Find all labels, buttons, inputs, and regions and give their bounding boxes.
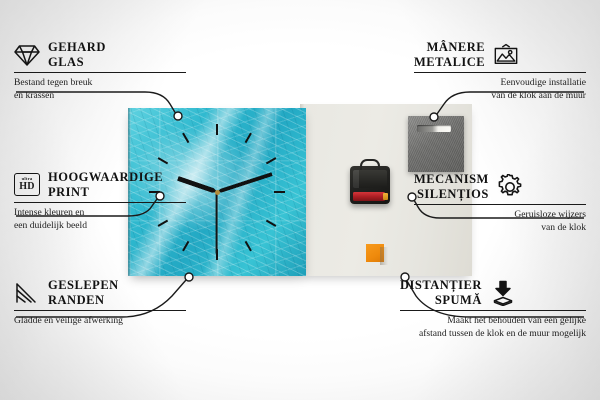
title-line-1: GEHARD	[48, 40, 106, 54]
desc-line-2: een duidelijk beeld	[14, 220, 87, 231]
hand-center-cap	[215, 190, 220, 195]
metal-hanger-plate	[408, 116, 464, 172]
desc-line-2: afstand tussen de klok en de muur mogeli…	[419, 328, 586, 339]
clock-mechanism	[350, 166, 390, 204]
clock-tick	[245, 133, 252, 144]
desc-line-2: en krassen	[14, 90, 54, 101]
desc-line-1: Gladde en veilige afwerking	[14, 315, 123, 326]
title-line-2: GLAS	[48, 55, 84, 69]
clock-tick	[245, 241, 252, 252]
desc-line-1: Intense kleuren en	[14, 207, 84, 218]
feature-geslepen-randen: GESLEPEN RANDEN Gladde en veilige afwerk…	[14, 278, 186, 328]
feature-header: ultra HD HOOGWAARDIGE PRINT	[14, 170, 186, 199]
feature-header: GESLEPEN RANDEN	[14, 278, 186, 307]
clock-tick	[266, 220, 277, 227]
foam-spacer-pad	[366, 244, 384, 262]
clock-tick	[274, 191, 285, 193]
title-line-1: MECANISM	[414, 172, 489, 186]
clock-tick	[158, 157, 169, 164]
clock-tick	[266, 157, 277, 164]
ultra-hd-icon: ultra HD	[14, 172, 40, 198]
clock-tick	[182, 133, 189, 144]
title-line-2: SPUMĂ	[435, 293, 482, 307]
feature-title: GESLEPEN RANDEN	[48, 278, 119, 307]
title-line-1: MÂNERE	[427, 40, 486, 54]
feature-divider	[14, 72, 186, 73]
minute-hand	[216, 172, 272, 194]
title-line-2: RANDEN	[48, 293, 104, 307]
desc-line-1: Eenvoudige installatie	[500, 77, 586, 88]
picture-frame-hook-icon	[493, 42, 519, 68]
ultra-hd-icon-large-text: HD	[19, 182, 35, 192]
feature-description: Bestand tegen breuk en krassen	[14, 77, 186, 102]
diamond-icon	[14, 42, 40, 68]
feature-mecanism-silentios: MECANISM SILENȚIOS Geruisloze wijzers va…	[414, 172, 586, 234]
feature-manere-metalice: MÂNERE METALICE Eenvoudige installatie v…	[414, 40, 586, 102]
desc-line-2: van de klok	[541, 222, 586, 233]
feature-title: MECANISM SILENȚIOS	[414, 172, 489, 201]
feature-distantier-spuma: DISTANȚIER SPUMĂ Maakt het behouden van …	[400, 278, 586, 340]
second-hand	[216, 192, 218, 254]
title-line-1: DISTANȚIER	[400, 278, 482, 292]
battery	[353, 192, 385, 201]
feature-description: Gladde en veilige afwerking	[14, 315, 186, 327]
desc-line-1: Maakt het behouden van een gelijke	[447, 315, 586, 326]
feature-divider	[14, 310, 186, 311]
desc-line-1: Geruisloze wijzers	[514, 209, 586, 220]
spacer-arrow-icon	[490, 280, 516, 306]
hanger-slot	[417, 125, 451, 132]
feature-header: GEHARD GLAS	[14, 40, 186, 69]
title-line-2: METALICE	[414, 55, 485, 69]
feature-hoogwaardige-print: ultra HD HOOGWAARDIGE PRINT Intense kleu…	[14, 170, 186, 232]
feature-description: Eenvoudige installatie van de klok aan d…	[414, 77, 586, 102]
feature-description: Maakt het behouden van een gelijke afsta…	[400, 315, 586, 340]
title-line-1: GESLEPEN	[48, 278, 119, 292]
desc-line-2: van de klok aan de muur	[491, 90, 586, 101]
beveled-edges-icon	[14, 280, 40, 306]
infographic-canvas: GEHARD GLAS Bestand tegen breuk en krass…	[0, 0, 600, 400]
desc-line-1: Bestand tegen breuk	[14, 77, 92, 88]
clock-tick	[182, 241, 189, 252]
feature-divider	[400, 310, 586, 311]
feature-title: MÂNERE METALICE	[414, 40, 485, 69]
feature-header: MECANISM SILENȚIOS	[414, 172, 586, 201]
feature-divider	[14, 202, 186, 203]
feature-title: DISTANȚIER SPUMĂ	[400, 278, 482, 307]
clock-tick	[216, 124, 218, 135]
feature-header: MÂNERE METALICE	[414, 40, 586, 69]
mechanism-face	[353, 170, 387, 188]
feature-title: HOOGWAARDIGE PRINT	[48, 170, 163, 199]
title-line-2: PRINT	[48, 185, 89, 199]
feature-header: DISTANȚIER SPUMĂ	[400, 278, 586, 307]
feature-description: Geruisloze wijzers van de klok	[414, 209, 586, 234]
feature-title: GEHARD GLAS	[48, 40, 106, 69]
title-line-2: SILENȚIOS	[417, 187, 489, 201]
feature-divider	[414, 204, 586, 205]
feature-description: Intense kleuren en een duidelijk beeld	[14, 207, 186, 232]
gear-icon	[497, 174, 523, 200]
battery-terminal	[383, 193, 388, 200]
title-line-1: HOOGWAARDIGE	[48, 170, 163, 184]
feature-gehard-glas: GEHARD GLAS Bestand tegen breuk en krass…	[14, 40, 186, 102]
feature-divider	[414, 72, 586, 73]
